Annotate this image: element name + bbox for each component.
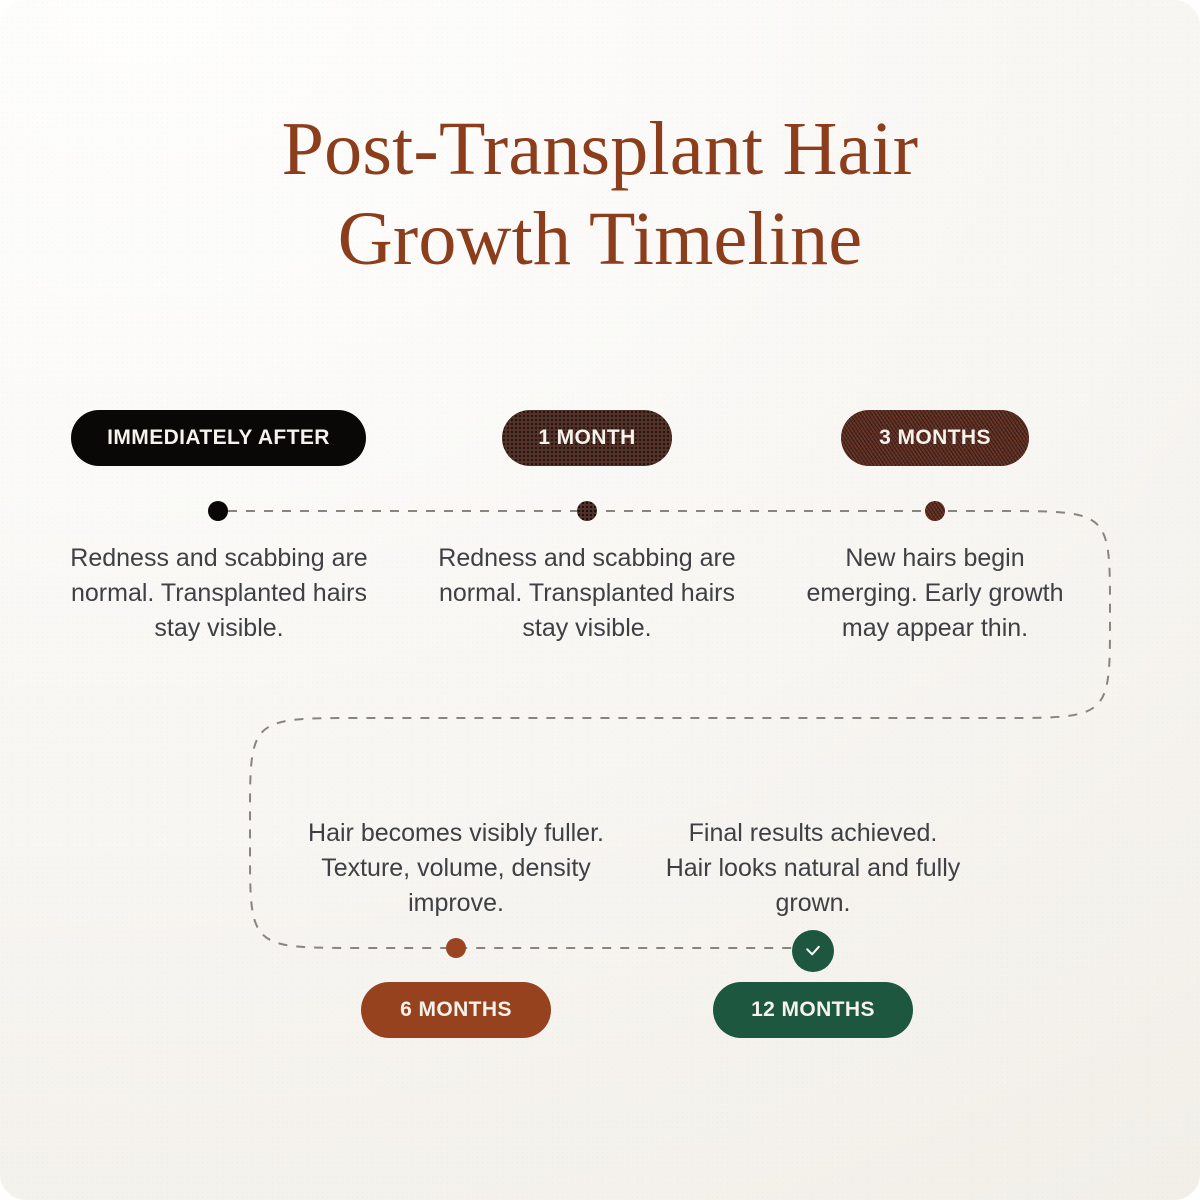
badge-1-month[interactable]: 1 MONTH [502, 410, 672, 466]
badge-6-months-label: 6 MONTHS [400, 998, 512, 1022]
node-6-months[interactable] [446, 938, 466, 958]
description-immediately-after: Redness and scabbing are normal. Transpl… [54, 541, 384, 646]
check-icon [803, 941, 823, 961]
infographic-canvas: Post-Transplant Hair Growth Timeline IMM… [0, 0, 1200, 1200]
page-title-line-2: Growth Timeline [0, 194, 1200, 284]
description-1-month: Redness and scabbing are normal. Transpl… [422, 541, 752, 646]
badge-1-month-label: 1 MONTH [538, 426, 635, 450]
description-6-months: Hair becomes visibly fuller. Texture, vo… [306, 816, 606, 921]
node-3-months[interactable] [925, 501, 945, 521]
node-immediately-after[interactable] [208, 501, 228, 521]
badge-3-months[interactable]: 3 MONTHS [841, 410, 1029, 466]
badge-immediately-after-label: IMMEDIATELY AFTER [107, 426, 330, 450]
badge-12-months[interactable]: 12 MONTHS [713, 982, 913, 1038]
node-12-months[interactable] [792, 930, 834, 972]
badge-3-months-label: 3 MONTHS [879, 426, 991, 450]
description-3-months: New hairs begin emerging. Early growth m… [790, 541, 1080, 646]
badge-immediately-after[interactable]: IMMEDIATELY AFTER [71, 410, 366, 466]
badge-12-months-label: 12 MONTHS [751, 998, 875, 1022]
page-title: Post-Transplant Hair Growth Timeline [0, 104, 1200, 284]
node-1-month[interactable] [577, 501, 597, 521]
page-title-line-1: Post-Transplant Hair [0, 104, 1200, 194]
description-12-months: Final results achieved. Hair looks natur… [663, 816, 963, 921]
badge-6-months[interactable]: 6 MONTHS [361, 982, 551, 1038]
